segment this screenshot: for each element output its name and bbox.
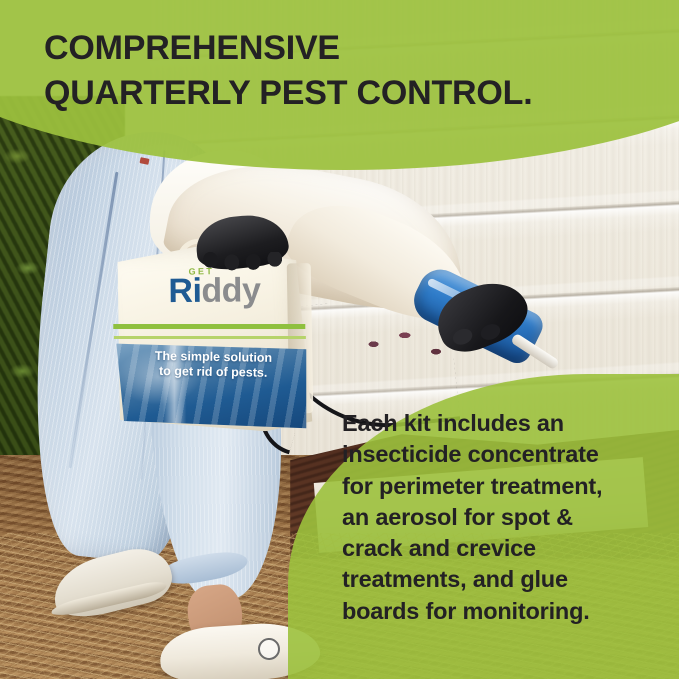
bag-tagline-line-2: to get rid of pests. (127, 364, 299, 382)
headline-line-1: COMPREHENSIVE (44, 26, 644, 71)
bag-tagline: The simple solution to get rid of pests. (127, 348, 300, 381)
body-copy-line-2: insecticide concentrate (342, 439, 662, 470)
body-copy-line-4: an aerosol for spot & (342, 502, 662, 533)
body-copy-line-6: treatments, and glue (342, 564, 662, 595)
advertisement-creative: GET Riddy The simple solution to get rid… (0, 0, 679, 679)
bag-green-stripe-thin (114, 336, 306, 339)
glove-fingertips (200, 252, 286, 278)
body-copy-text: Each kit includes an insecticide concent… (342, 408, 662, 627)
headline-line-2: QUARTERLY PEST CONTROL. (44, 71, 644, 116)
body-copy-line-7: boards for monitoring. (342, 596, 662, 627)
body-copy-line-1: Each kit includes an (342, 408, 662, 439)
page-title: COMPREHENSIVE QUARTERLY PEST CONTROL. (44, 26, 644, 116)
bag-green-stripe (113, 324, 305, 329)
body-copy-line-3: for perimeter treatment, (342, 471, 662, 502)
brand-wordmark-part-1: Ri (168, 272, 201, 310)
bag-brand-wordmark: Riddy (139, 273, 289, 308)
body-copy-line-5: crack and crevice (342, 533, 662, 564)
